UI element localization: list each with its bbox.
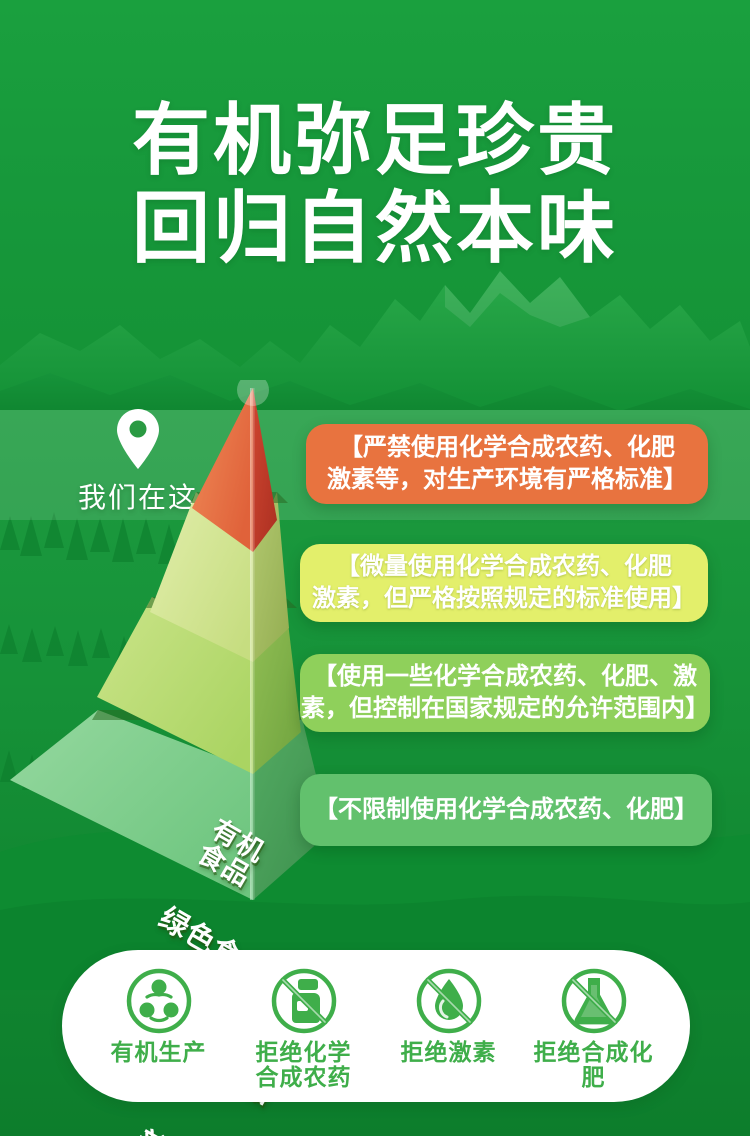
- headline-line-2: 回归自然本味: [0, 184, 750, 272]
- feature-card: 有机生产 拒绝化学 合成农药: [62, 950, 690, 1102]
- headline-line-1: 有机弥足珍贵: [132, 96, 618, 184]
- callout-green-food[interactable]: 【微量使用化学合成农药、化肥 激素，但严格按照规定的标准使用】: [300, 544, 708, 622]
- callout-organic[interactable]: 【严禁使用化学合成农药、化肥 激素等，对生产环境有严格标准】: [306, 424, 708, 504]
- no-hormone-droplet-icon: [413, 964, 485, 1038]
- organic-production-icon: [123, 964, 195, 1038]
- feature-organic-production[interactable]: 有机生产: [89, 964, 229, 1065]
- feature-label: 拒绝化学 合成农药: [256, 1040, 352, 1090]
- feature-label: 有机生产: [111, 1040, 207, 1065]
- no-chemical-pesticide-icon: [268, 964, 340, 1038]
- page-title: 有机弥足珍贵 回归自然本味: [0, 96, 750, 272]
- feature-no-synthetic-fertilizer[interactable]: 拒绝合成化肥: [524, 964, 664, 1090]
- callout-ordinary-food[interactable]: 【不限制使用化学合成农药、化肥】: [300, 774, 712, 846]
- feature-label: 拒绝激素: [401, 1040, 497, 1065]
- feature-label: 拒绝合成化肥: [524, 1040, 664, 1090]
- no-synthetic-fertilizer-flask-icon: [558, 964, 630, 1038]
- feature-no-chemical-pesticide[interactable]: 拒绝化学 合成农药: [234, 964, 374, 1090]
- poster-root: 有机弥足珍贵 回归自然本味 我们在这: [0, 0, 750, 1136]
- callout-pollution-free[interactable]: 【使用一些化学合成农药、化肥、激 素，但控制在国家规定的允许范围内】: [300, 654, 710, 732]
- feature-no-hormone[interactable]: 拒绝激素: [379, 964, 519, 1065]
